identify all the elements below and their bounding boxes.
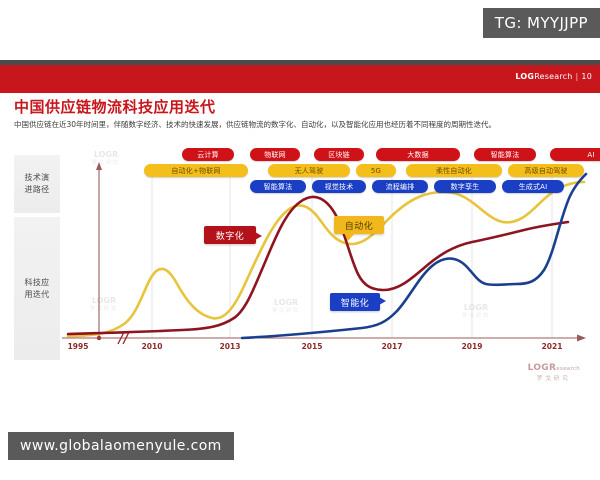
page-title: 中国供应链物流科技应用迭代 <box>14 96 216 117</box>
watermark-tag-top: TG: MYYJJPP <box>483 8 600 38</box>
header-brand-research: Research <box>534 72 572 81</box>
logresearch-logo-suffix: esearch <box>556 366 580 372</box>
tag-blockchain[interactable]: 区块链 <box>314 148 364 161</box>
callout-tail-icon <box>379 297 386 305</box>
watermark-tag-bottom: www.globalaomenyule.com <box>8 432 234 460</box>
tag-flexible-automation[interactable]: 柔性自动化 <box>406 164 502 177</box>
header-brand-log: LOG <box>515 72 534 81</box>
tag-generative-ai[interactable]: 生成式AI <box>502 180 564 193</box>
callout-intelligence: 智能化 <box>330 293 380 311</box>
category-application-iteration: 科技应 用迭代 <box>14 217 60 360</box>
x-axis-label-2017: 2017 <box>382 342 403 351</box>
header-brand: LOGResearch|10 <box>515 72 592 81</box>
category-technology-path-line1: 技术演 <box>23 172 51 184</box>
slide-top-red-bar <box>0 65 600 93</box>
category-technology-path: 技术演 进路径 <box>14 155 60 213</box>
logresearch-logo: LOGResearch 罗戈研究 <box>528 363 580 382</box>
tag-digital-twin[interactable]: 数字孪生 <box>434 180 496 193</box>
tag-advanced-autonomous-driving[interactable]: 高级自动驾驶 <box>508 164 584 177</box>
tag-smart-algorithm[interactable]: 智能算法 <box>474 148 536 161</box>
callout-automation-label: 自动化 <box>345 219 374 232</box>
chart-x-axis <box>62 335 586 342</box>
series-automation-curve <box>68 182 584 336</box>
x-axis-label-2010: 2010 <box>142 342 163 351</box>
x-axis-label-2019: 2019 <box>462 342 483 351</box>
tag-iot[interactable]: 物联网 <box>250 148 300 161</box>
logresearch-logo-mark: LOGR <box>528 363 557 373</box>
callout-digitalization: 数字化 <box>204 226 256 244</box>
tag-cloud-computing[interactable]: 云计算 <box>182 148 234 161</box>
slide-root: TG: MYYJJPP www.globalaomenyule.com LOGR… <box>0 0 600 480</box>
callout-digitalization-label: 数字化 <box>216 229 245 242</box>
tag-ai[interactable]: AI <box>550 148 600 161</box>
chart-y-axis <box>96 162 102 340</box>
logresearch-logo-main: LOGResearch <box>528 363 580 373</box>
header-page-number: 10 <box>581 72 592 81</box>
callout-automation: 自动化 <box>334 216 384 234</box>
category-application-iteration-line2: 用迭代 <box>23 289 51 301</box>
tag-5g[interactable]: 5G <box>356 164 396 177</box>
callout-tail-icon <box>255 232 262 240</box>
chart-plot-area: LOGR 罗戈研究 LOGR 罗戈研究 LOGR 罗戈研究 LOGR 罗戈研究 <box>62 148 590 360</box>
page-subtitle: 中国供应链在近30年时间里，伴随数字经济、技术的快速发展，供应链物流的数字化、自… <box>14 120 590 131</box>
callout-tail-icon <box>344 233 355 241</box>
x-axis-label-1995: 1995 <box>68 342 89 351</box>
category-application-iteration-line1: 科技应 <box>23 277 51 289</box>
tag-big-data[interactable]: 大数据 <box>376 148 460 161</box>
callout-intelligence-label: 智能化 <box>341 296 370 309</box>
tag-driverless[interactable]: 无人驾驶 <box>268 164 350 177</box>
tag-automation-iot[interactable]: 自动化+物联网 <box>144 164 248 177</box>
slide-body: LOGResearch|10 中国供应链物流科技应用迭代 中国供应链在近30年时… <box>0 60 600 432</box>
tag-intelligent-algorithm[interactable]: 智能算法 <box>250 180 306 193</box>
logresearch-logo-cn: 罗戈研究 <box>528 374 580 382</box>
x-axis-label-2015: 2015 <box>302 342 323 351</box>
tag-vision-technology[interactable]: 视觉技术 <box>312 180 366 193</box>
x-axis-label-2021: 2021 <box>542 342 563 351</box>
tag-process-orchestration[interactable]: 流程编排 <box>372 180 428 193</box>
header-brand-separator: | <box>573 72 582 81</box>
x-axis-label-2013: 2013 <box>220 342 241 351</box>
category-technology-path-line2: 进路径 <box>23 184 51 196</box>
